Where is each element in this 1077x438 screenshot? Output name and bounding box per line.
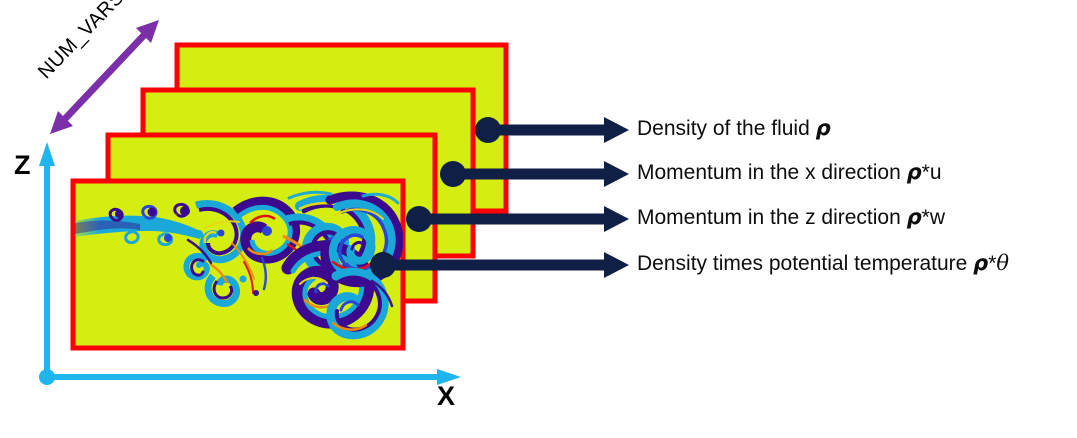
variable-text-density-potential-temperature: Density times potential temperature — [637, 252, 973, 275]
z-axis-label: Z — [14, 152, 31, 179]
variable-label-momentum-z: Momentum in the z direction ρ*w — [637, 207, 945, 228]
rho-symbol: ρ — [816, 116, 831, 140]
numvars-dimension-label: NUM_VARS — [28, 14, 198, 144]
variable-text-density: Density of the fluid — [637, 117, 816, 140]
x-axis-label: X — [437, 383, 455, 410]
variable-label-density-potential-temperature: Density times potential temperature ρ*θ — [637, 253, 1009, 274]
variable-text-momentum-z: Momentum in the z direction — [637, 206, 907, 229]
figure-canvas: NUM_VARS Z X Density of the fluid ρ Mome… — [0, 0, 1077, 438]
rho-symbol: ρ — [907, 160, 922, 184]
variable-text-momentum-x: Momentum in the x direction — [637, 161, 907, 184]
variable-label-density: Density of the fluid ρ — [637, 118, 831, 139]
rho-suffix: *u — [922, 161, 942, 184]
theta-symbol: θ — [996, 251, 1009, 275]
rho-symbol: ρ — [907, 205, 922, 229]
rho-symbol: ρ — [973, 251, 988, 275]
rho-suffix: *w — [922, 206, 945, 229]
variable-label-momentum-x: Momentum in the x direction ρ*u — [637, 162, 942, 183]
